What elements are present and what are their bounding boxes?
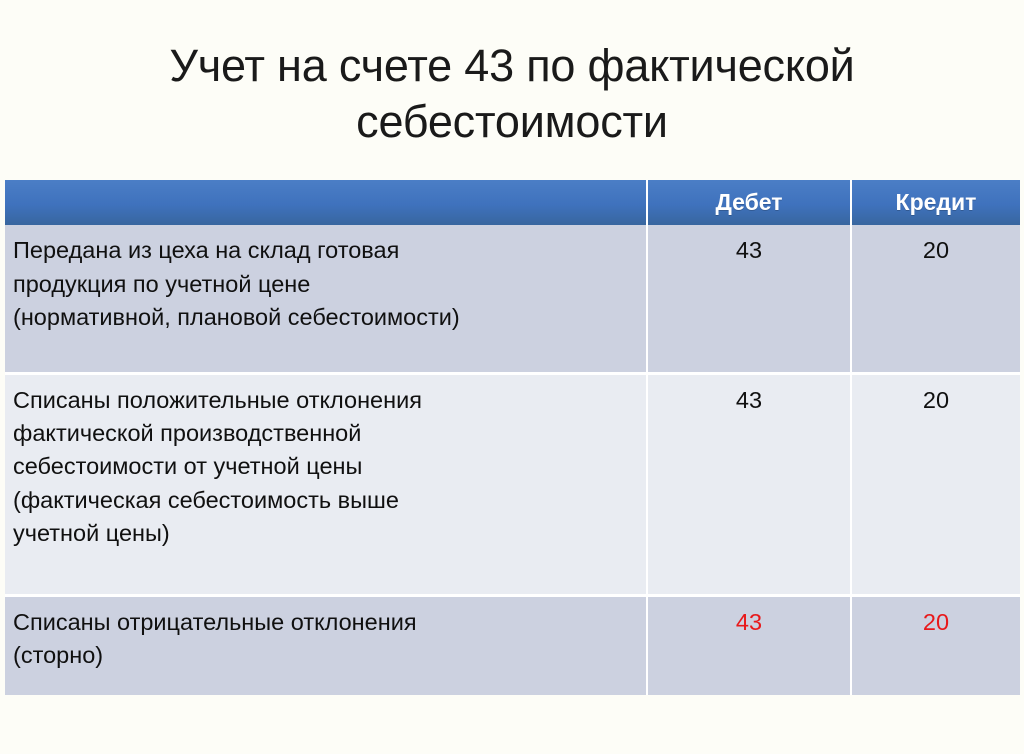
accounting-entries-table-wrapper: Дебет Кредит Передана из цеха на склад г… — [5, 180, 1020, 695]
table-row: Списаны положительные отклонения фактиче… — [5, 373, 1020, 595]
table-header: Дебет Кредит — [5, 180, 1020, 225]
table-body: Передана из цеха на склад готовая продук… — [5, 225, 1020, 695]
cell-credit: 20 — [851, 595, 1020, 695]
cell-debit: 43 — [647, 225, 851, 373]
cell-credit: 20 — [851, 225, 1020, 373]
cell-description: Списаны отрицательные отклонения (сторно… — [5, 595, 647, 695]
accounting-entries-table: Дебет Кредит Передана из цеха на склад г… — [5, 180, 1020, 695]
cell-credit: 20 — [851, 373, 1020, 595]
table-header-row: Дебет Кредит — [5, 180, 1020, 225]
cell-description: Передана из цеха на склад готовая продук… — [5, 225, 647, 373]
cell-description: Списаны положительные отклонения фактиче… — [5, 373, 647, 595]
column-header-credit: Кредит — [851, 180, 1020, 225]
column-header-debit: Дебет — [647, 180, 851, 225]
page-title: Учет на счете 43 по фактической себестои… — [0, 30, 1024, 151]
column-header-description — [5, 180, 647, 225]
table-row: Передана из цеха на склад готовая продук… — [5, 225, 1020, 373]
table-row: Списаны отрицательные отклонения (сторно… — [5, 595, 1020, 695]
cell-debit: 43 — [647, 595, 851, 695]
cell-debit: 43 — [647, 373, 851, 595]
